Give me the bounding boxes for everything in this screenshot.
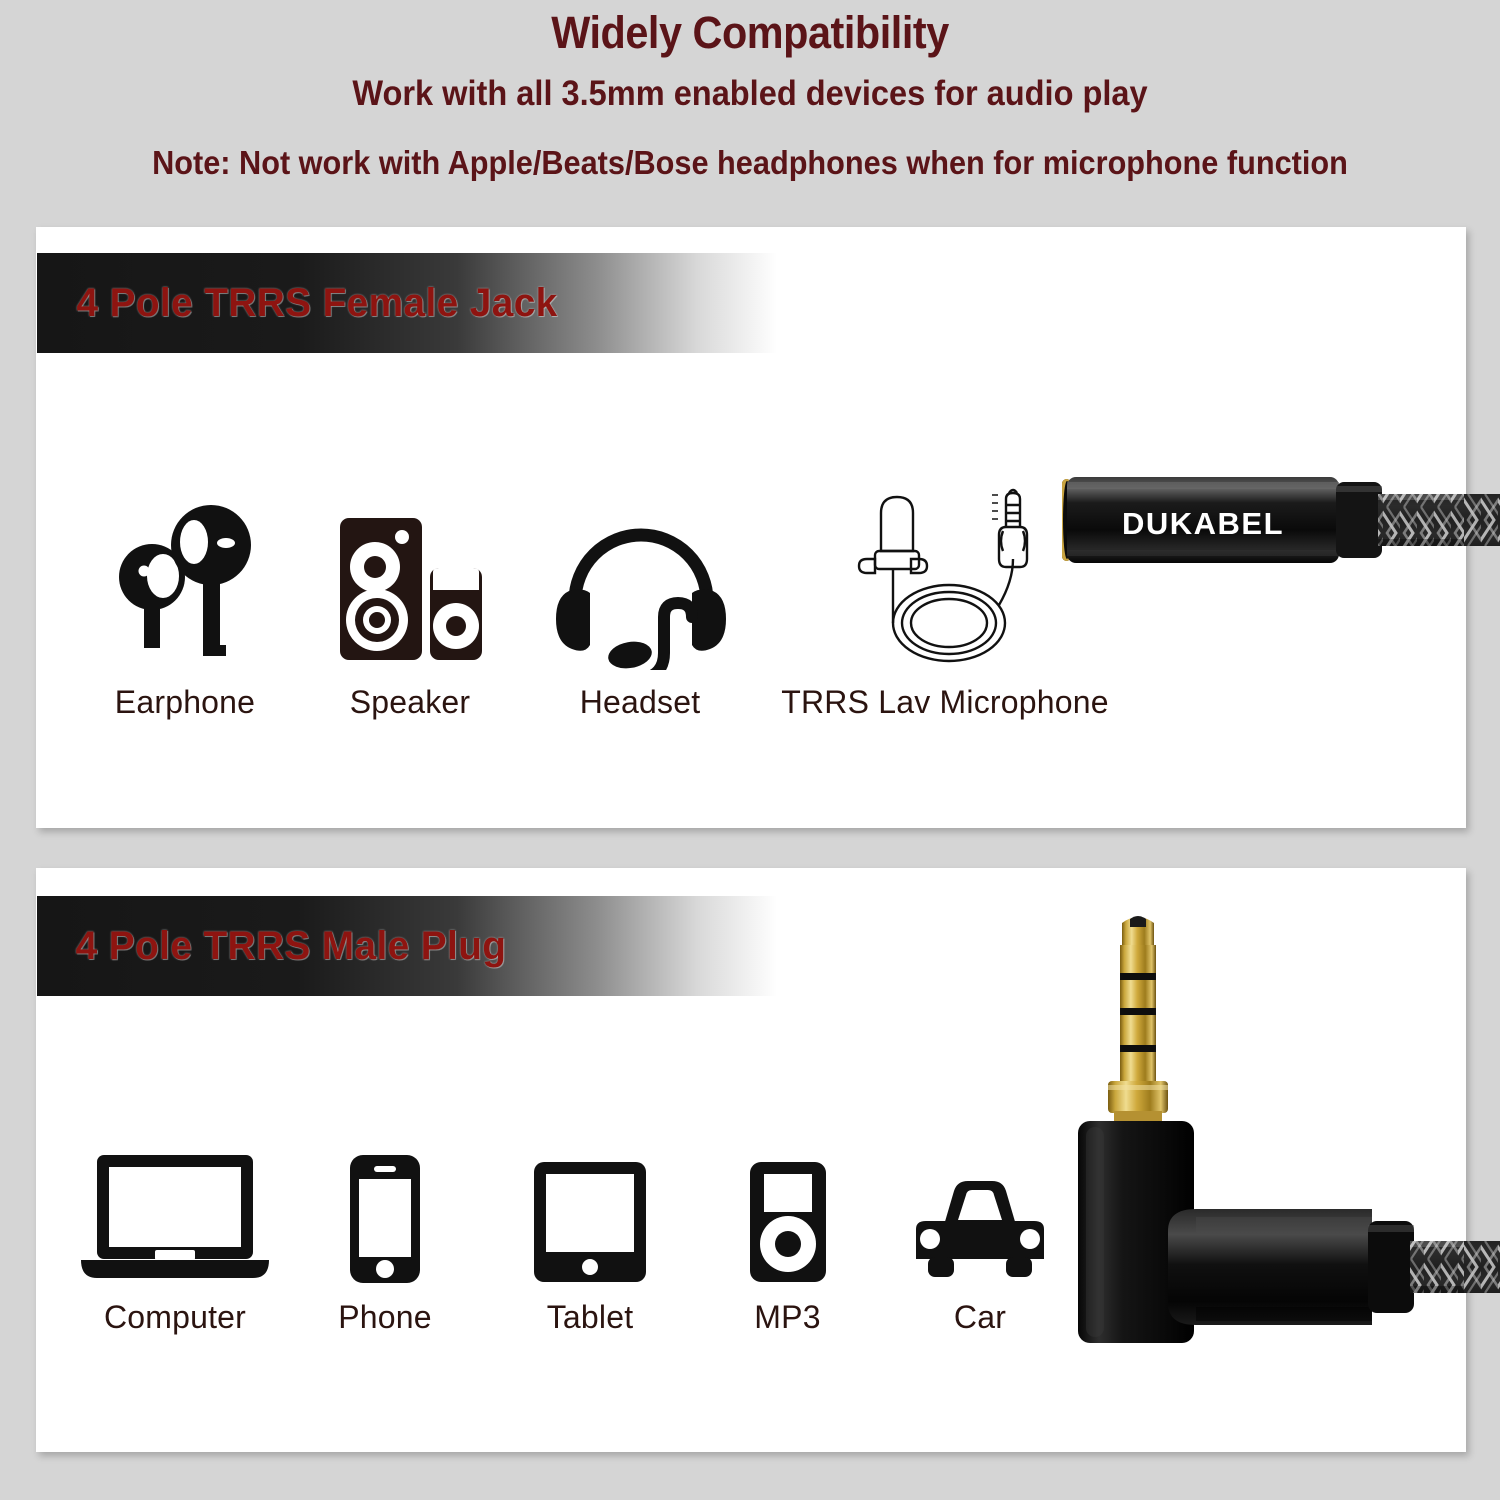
compat-label-speaker: Speaker [350,684,471,721]
earphone-icon [110,495,260,670]
mp3-player-icon [747,1160,829,1285]
compat-label-mp3: MP3 [754,1299,820,1336]
compat-label-lav-microphone: TRRS Lav Microphone [781,684,1109,721]
compat-label-computer: Computer [104,1299,246,1336]
compat-item-mp3[interactable]: MP3 [690,1145,885,1336]
page-subtitle: Work with all 3.5mm enabled devices for … [53,72,1448,116]
compat-item-tablet[interactable]: Tablet [490,1145,690,1336]
compat-item-car[interactable]: Car [885,1145,1075,1336]
compatibility-row-female: Earphone Speaker [70,455,1130,721]
gold-pin [1108,916,1168,1121]
compat-label-car: Car [954,1299,1006,1336]
banner-male-plug: 4 Pole TRRS Male Plug [37,896,1037,996]
cable-overflow-female [1464,494,1500,546]
page-title: Widely Compatibility [60,6,1440,60]
compat-label-tablet: Tablet [547,1299,634,1336]
speaker-icon [330,510,490,670]
compat-label-phone: Phone [338,1299,432,1336]
product-brand-female: DUKABEL [1122,506,1284,541]
laptop-icon [75,1153,275,1285]
tablet-icon [530,1160,650,1285]
compat-item-speaker[interactable]: Speaker [300,495,520,721]
page-note: Note: Not work with Apple/Beats/Bose hea… [53,142,1448,184]
compat-item-computer[interactable]: Computer [70,1145,280,1336]
compat-item-phone[interactable]: Phone [280,1145,490,1336]
smartphone-icon [340,1153,430,1285]
trrs-female-jack-photo: DUKABEL [1060,455,1500,590]
compat-item-headset[interactable]: Headset [520,495,760,721]
compat-item-earphone[interactable]: Earphone [70,495,300,721]
banner-female-jack: 4 Pole TRRS Female Jack [37,253,1037,353]
lav-microphone-icon [845,455,1045,670]
header-block: Widely Compatibility Work with all 3.5mm… [0,0,1500,184]
cable-overflow-male [1464,1241,1500,1293]
headset-icon [553,495,728,670]
banner-label-male-plug: 4 Pole TRRS Male Plug [76,924,507,969]
banner-label-female-jack: 4 Pole TRRS Female Jack [76,281,557,326]
trrs-male-plug-photo [1050,895,1500,1350]
car-icon [910,1173,1050,1285]
compat-label-earphone: Earphone [115,684,255,721]
compatibility-row-male: Computer Phone Tablet [70,1145,1075,1336]
compat-label-headset: Headset [580,684,701,721]
